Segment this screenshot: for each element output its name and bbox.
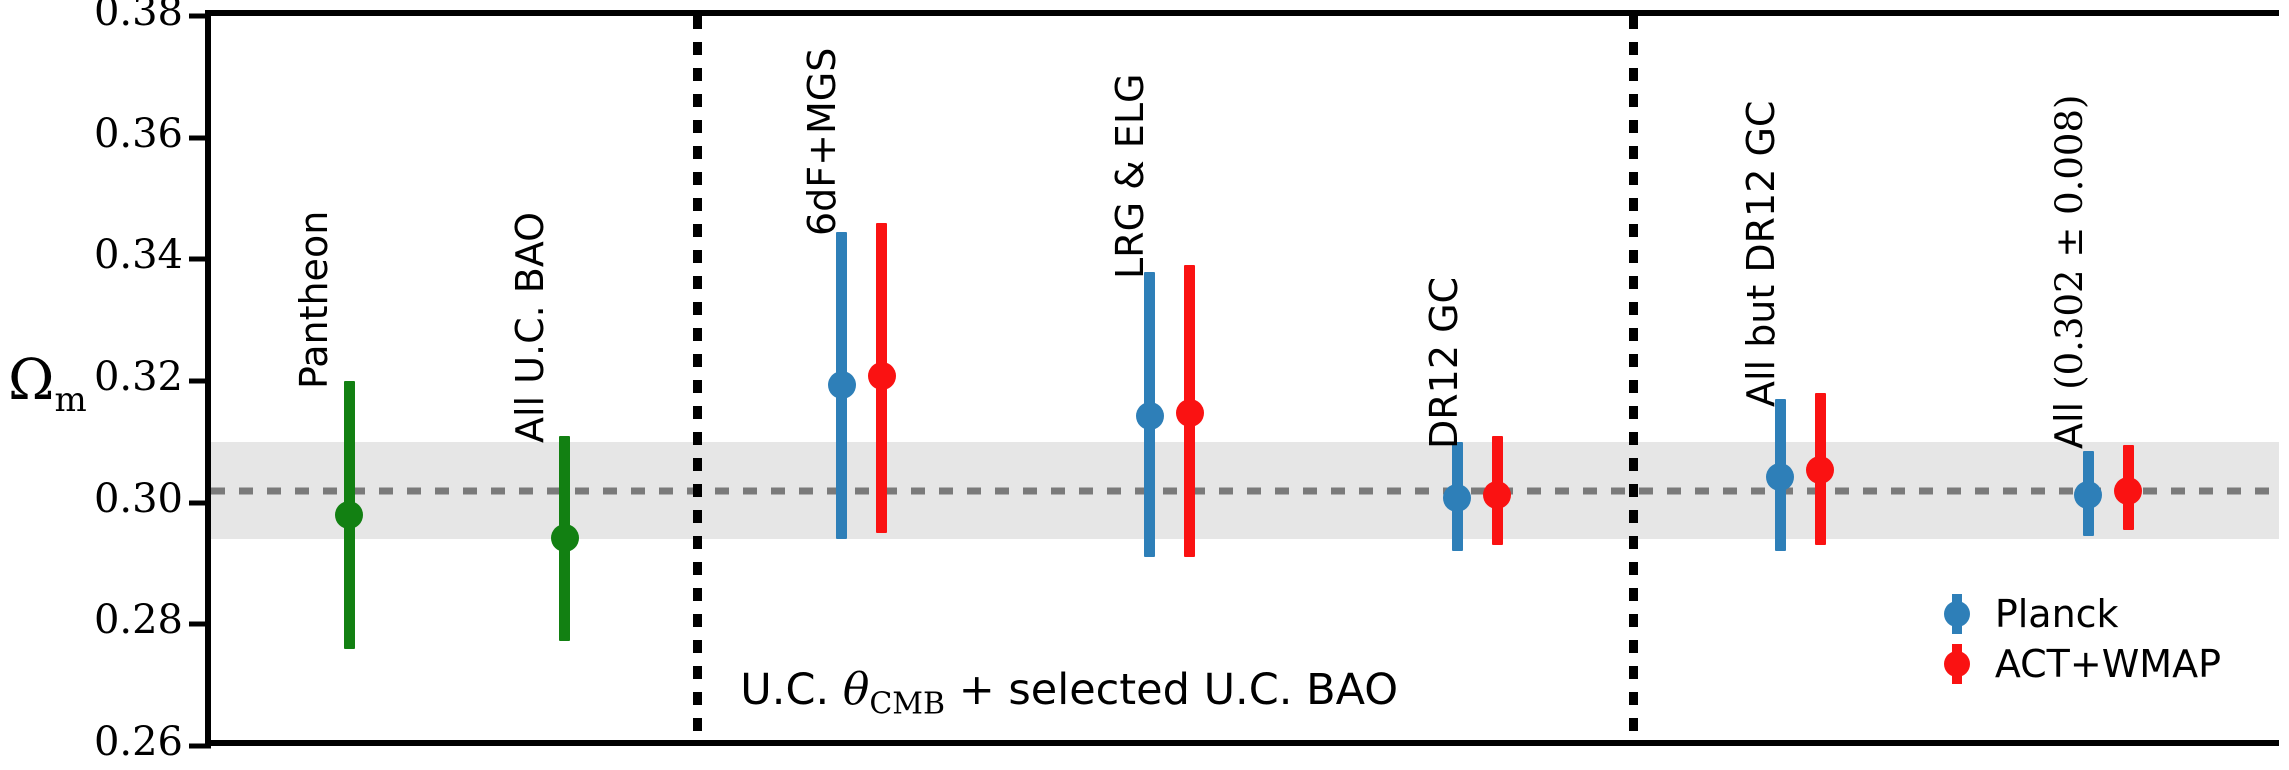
point-label: LRG & ELG: [1108, 74, 1152, 279]
y-axis-tick: [189, 379, 211, 384]
annotation-text: U.C. θCMB + selected U.C. BAO: [740, 664, 1398, 722]
y-axis-tick-label: 0.34: [33, 232, 183, 278]
y-axis-tick: [189, 257, 211, 262]
legend-marker-icon: [1945, 642, 1969, 686]
legend-marker-icon: [1945, 592, 1969, 636]
group-divider-line: [1629, 16, 1638, 740]
legend-item[interactable]: Planck: [1945, 592, 2221, 636]
point-label: Pantheon: [292, 210, 336, 388]
data-point-marker: [868, 362, 896, 390]
point-label: All U.C. BAO: [508, 212, 552, 443]
y-axis-tick-label: 0.26: [33, 719, 183, 765]
y-axis-tick-label: 0.30: [33, 476, 183, 522]
data-point-marker: [1766, 463, 1794, 491]
figure-canvas: Ωm PantheonAll U.C. BAO6dF+MGSLRG & ELGD…: [0, 0, 2289, 770]
reference-center-line: [211, 487, 2279, 494]
theta-subscript: CMB: [869, 686, 945, 721]
annotation-pre: U.C.: [740, 665, 843, 715]
data-point-marker: [1176, 399, 1204, 427]
legend: PlanckACT+WMAP: [1945, 592, 2221, 692]
plot-inner: PantheonAll U.C. BAO6dF+MGSLRG & ELGDR12…: [211, 16, 2279, 740]
y-axis-tick-label: 0.32: [33, 354, 183, 400]
data-point-marker: [1443, 484, 1471, 512]
plot-area: PantheonAll U.C. BAO6dF+MGSLRG & ELGDR12…: [205, 10, 2279, 746]
data-point-marker: [1483, 481, 1511, 509]
theta-symbol: θ: [843, 664, 870, 715]
y-axis-tick-label: 0.36: [33, 111, 183, 157]
data-point-marker: [551, 524, 579, 552]
y-axis-tick-label: 0.38: [33, 0, 183, 35]
legend-label: ACT+WMAP: [1995, 642, 2221, 686]
y-axis-tick-label: 0.28: [33, 597, 183, 643]
group-divider-line: [693, 16, 702, 740]
y-axis-tick: [189, 744, 211, 749]
point-label: 6dF+MGS: [800, 48, 844, 236]
point-label: All but DR12 GC: [1739, 100, 1783, 406]
legend-item[interactable]: ACT+WMAP: [1945, 642, 2221, 686]
y-axis-tick: [189, 14, 211, 19]
data-point-marker: [2074, 481, 2102, 509]
y-axis-tick: [189, 622, 211, 627]
y-axis-tick: [189, 500, 211, 505]
annotation-post: + selected U.C. BAO: [945, 665, 1398, 715]
point-label: DR12 GC: [1422, 277, 1466, 449]
data-point-marker: [828, 371, 856, 399]
y-axis-tick: [189, 135, 211, 140]
data-point-marker: [1136, 402, 1164, 430]
point-label: All (0.302 ± 0.008): [2047, 95, 2091, 449]
data-point-marker: [2114, 477, 2142, 505]
legend-label: Planck: [1995, 592, 2119, 636]
